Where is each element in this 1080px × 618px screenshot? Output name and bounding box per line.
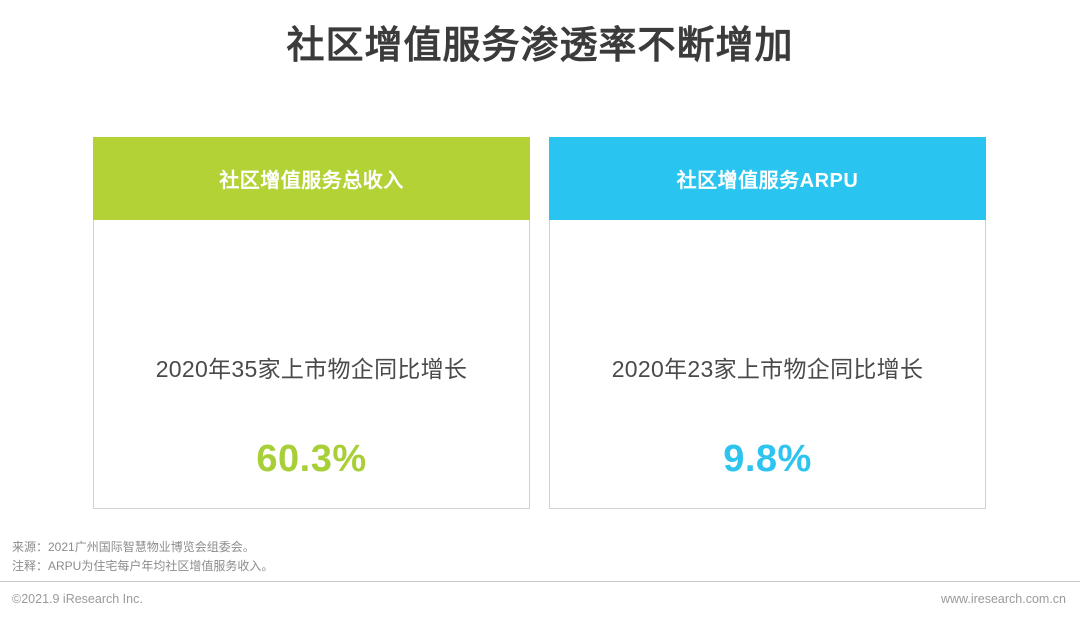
- footnotes: 来源：2021广州国际智慧物业博览会组委会。 注释：ARPU为住宅每户年均社区增…: [12, 538, 273, 575]
- card-header-label: 社区增值服务总收入: [219, 164, 404, 193]
- card-header-arpu: 社区增值服务ARPU: [549, 137, 986, 220]
- footer-divider: [0, 581, 1080, 582]
- metric-card-total-revenue: 社区增值服务总收入 2020年35家上市物企同比增长 60.3%: [93, 137, 530, 509]
- card-body-arpu: 2020年23家上市物企同比增长 9.8%: [549, 220, 986, 509]
- card-value: 9.8%: [550, 438, 985, 481]
- metric-card-arpu: 社区增值服务ARPU 2020年23家上市物企同比增长 9.8%: [549, 137, 986, 509]
- card-subtitle: 2020年35家上市物企同比增长: [94, 350, 529, 384]
- card-body-total-revenue: 2020年35家上市物企同比增长 60.3%: [93, 220, 530, 509]
- metric-cards-container: 社区增值服务总收入 2020年35家上市物企同比增长 60.3% 社区增值服务A…: [93, 137, 986, 509]
- card-header-total-revenue: 社区增值服务总收入: [93, 137, 530, 220]
- page-title: 社区增值服务渗透率不断增加: [0, 22, 1080, 71]
- card-subtitle: 2020年23家上市物企同比增长: [550, 350, 985, 384]
- source-note: 来源：2021广州国际智慧物业博览会组委会。: [12, 538, 273, 557]
- website-link[interactable]: www.iresearch.com.cn: [941, 592, 1066, 606]
- copyright-text: ©2021.9 iResearch Inc.: [12, 592, 143, 606]
- card-header-label: 社区增值服务ARPU: [677, 164, 859, 193]
- card-value: 60.3%: [94, 438, 529, 481]
- explanation-note: 注释：ARPU为住宅每户年均社区增值服务收入。: [12, 557, 273, 576]
